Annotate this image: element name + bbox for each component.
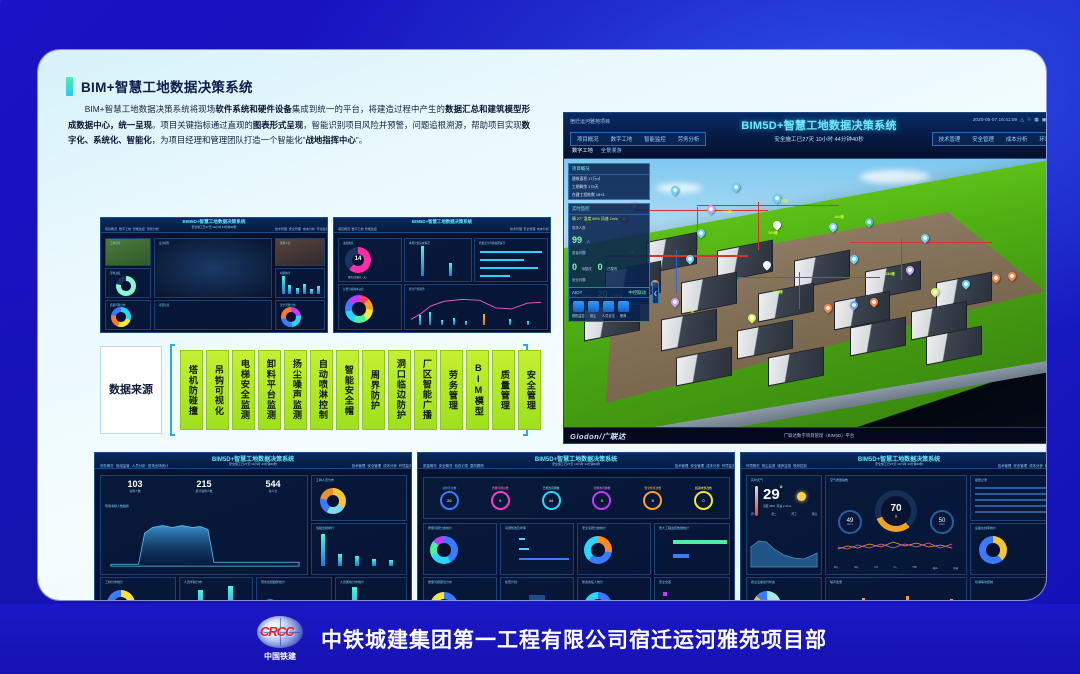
gauge-unit: 良	[895, 514, 898, 518]
tab-item[interactable]: 安全管理	[1013, 463, 1027, 468]
alarm-row	[975, 493, 1046, 495]
stat-value: 0	[572, 262, 577, 272]
bim-footer: Glodon/广联达 广联达数字项目管理（BIM5D）平台	[564, 427, 1046, 443]
aiot-item[interactable]: 喷淋	[617, 301, 629, 318]
hbar	[480, 259, 524, 261]
bar	[355, 556, 359, 566]
panel-rectify-rate[interactable]: 问题整改及时率	[500, 523, 574, 575]
ring-item[interactable]: 超期未整改数 0	[694, 486, 713, 510]
datetime-label: 2020-05-07 16:41:59	[973, 118, 1018, 123]
alarm-row	[975, 511, 1046, 513]
aiot-item[interactable]: 人员定位	[602, 301, 614, 318]
source-tag[interactable]: 智能安全帽	[336, 350, 359, 430]
stat-value: 0	[598, 262, 603, 272]
forecast-row: 周一 周二 周三 周四	[751, 512, 817, 516]
bar	[317, 286, 320, 294]
tab-item[interactable]: 安全管理	[523, 227, 535, 231]
panel-title: 班组出勤排行	[316, 526, 334, 530]
panel-title: 实时天气	[751, 478, 763, 482]
dashboard-environment[interactable]: BIM5D+智慧工地数据决策系统 安全施工已27天 10小时 44分钟40秒 环…	[740, 452, 1046, 600]
panel-check-plan[interactable]: 检查计划	[500, 577, 574, 600]
stat-label: 质量问题	[572, 250, 646, 255]
panel-issue-handling[interactable]: 质量安全问题处理情况	[474, 238, 548, 282]
aiot-item[interactable]: 塔机监控	[572, 301, 584, 318]
dashboard-tabs-right[interactable]: 技术管理 安全管理 成本分析 环境监测	[675, 463, 729, 468]
attendance-area-chart	[101, 512, 307, 570]
tab-item[interactable]: 技术管理	[275, 227, 287, 231]
dashboard-subtitle: 安全施工已27天 10小时 44分钟40秒	[192, 225, 237, 229]
owner-donut	[584, 592, 612, 600]
panel-title: 工地实景	[110, 241, 120, 245]
dashboard-tabs-right[interactable]: 技术管理 安全管理 成本分析 环境监测	[998, 463, 1046, 468]
stat-unit: 人	[586, 240, 589, 244]
panel-title: 质量问题分类统计	[428, 526, 452, 530]
source-tag[interactable]: 周界防护	[362, 350, 385, 430]
overlay-card-project-info[interactable]: 项目概况 建筑面积 17万㎡ 工期剩余 178天 在建工程栋数 18+3	[568, 163, 650, 200]
dashboard-subtitle: 安全施工已27天 10小时 44分钟40秒	[229, 462, 277, 466]
panel-title: 人员属地分布统计	[340, 580, 364, 584]
aqi-sparkline	[826, 538, 966, 552]
building-label: 14#楼	[722, 210, 732, 215]
ring-chart: 5	[592, 491, 611, 510]
dashboard-header: BIM5D+智慧工地数据决策系统 安全施工已27天 10小时 44分钟40秒 环…	[741, 453, 1046, 469]
tab-item[interactable]: 技术管理	[675, 463, 689, 468]
bim-status-bar[interactable]: 2020-05-07 16:41:59 △ ☉ ▦ ▣ ✉ ⚙ ☃	[973, 118, 1046, 123]
tower-crane-jib	[697, 205, 840, 206]
source-tag[interactable]: 质量管理	[492, 350, 515, 430]
ring-value: 9	[499, 498, 501, 503]
card-line: 建筑面积 17万㎡	[569, 175, 649, 183]
dashboard-tabs-left[interactable]: 质量概况 安全概况 检查记录 整改跟踪	[423, 463, 477, 468]
panel-site-photo[interactable]: 工地实景	[105, 238, 151, 266]
tab-item[interactable]: 安全管理	[690, 463, 704, 468]
tab-item[interactable]: 数字工地	[351, 227, 363, 231]
panel-progress-gauge[interactable]: 进度概览 14 整体进度偏差（天）	[338, 238, 402, 282]
stat-value: 99	[572, 235, 582, 245]
tab-item[interactable]: 智能监控	[365, 227, 377, 231]
panel-aqi[interactable]: 空气质量指数 70 良 49 PM2.5 50 PM10 SO₂	[825, 475, 967, 575]
alarm-row	[975, 487, 1046, 489]
ring-item[interactable]: 安全检查次数 8	[643, 486, 662, 510]
tab-item[interactable]: 劳务分析	[147, 227, 159, 231]
dashboard-tabs-left[interactable]: 环境概况 扬尘监测 噪声监测 喷淋控制	[746, 463, 800, 468]
alarm-row	[975, 505, 1046, 507]
tab-item[interactable]: 噪声监测	[777, 463, 791, 468]
building-label: 17#楼	[778, 199, 788, 204]
panel-title: 检查计划	[505, 580, 517, 584]
hbar	[519, 558, 569, 560]
bar	[465, 321, 467, 325]
aqi-item: 噪声	[933, 566, 938, 570]
bar	[389, 560, 393, 566]
tab-item[interactable]: 质量概况	[423, 463, 437, 468]
panel-alarm-records[interactable]: 报警记录	[970, 475, 1046, 521]
intro-paragraph: BIM+智慧工地数据决策系统将现场软件系统和硬件设备集成到统一的平台，将建造过程…	[68, 102, 530, 149]
dashboard-cost[interactable]: BIM5D+智慧工地数据决策系统 项目概况 数字工地 智能监控 技术管理 安全管…	[333, 217, 551, 333]
help-icon[interactable]: ☉	[1027, 118, 1031, 123]
panel-title: 空气质量指数	[830, 478, 848, 482]
panel-attendance-trend[interactable]: 现场考勤人数趋势 103 在场人数 215 累计进场人数 544 总人次	[100, 475, 308, 575]
bim-main-panel[interactable]: 宿迁运河雅苑项目 BIM5D+智慧工地数据决策系统 安全施工已27天 10小时 …	[563, 112, 1046, 444]
project-selector[interactable]: 宿迁运河雅苑项目	[570, 118, 610, 125]
hbar	[519, 548, 529, 550]
panel-title: 安全问题分类统计	[582, 526, 606, 530]
panel-title: 质量安全问题处理情况	[479, 241, 505, 245]
panel-title: 工种人员分布	[316, 478, 334, 482]
noise-bar	[906, 596, 909, 600]
tab-item[interactable]: 成本分析	[383, 463, 397, 468]
gauge-value: 14	[345, 256, 371, 262]
panel-quality-donut[interactable]: 质量问题分布	[105, 300, 151, 330]
wind-label: 风速 2.3m/s	[777, 504, 792, 508]
tab-item[interactable]: 技术管理	[939, 135, 961, 143]
panel-rectify-owner[interactable]: 整改责任人统计	[577, 577, 651, 600]
panel-title: 质量问题部位分布	[428, 580, 452, 584]
panel-title: 劳务出勤趋势统计	[261, 580, 285, 584]
panel-device-pie[interactable]: 扬尘设备运行状态	[746, 577, 822, 600]
crcc-logo-text: 中国铁建	[253, 651, 307, 662]
tab-item[interactable]: 环境监测	[722, 463, 735, 468]
bar	[509, 319, 511, 325]
ring-label: 待整改问题数	[592, 486, 611, 490]
ring-value: 8	[652, 498, 654, 503]
ring-item[interactable]: 质量问题总数 9	[491, 486, 510, 510]
panel-safety-donut[interactable]: 安全问题分布	[275, 300, 325, 330]
source-tag[interactable]: 自动喷淋控制	[310, 350, 333, 430]
aiot-icon-row[interactable]: 塔机监控 扬尘 人员定位 喷淋	[569, 298, 649, 321]
bar	[296, 288, 299, 294]
ring-value: 0	[702, 498, 704, 503]
panel-title: 工种分布统计	[105, 580, 123, 584]
weather-line: 晴 27° 湿度 68% 风速 2m/s	[569, 215, 649, 223]
tab-item[interactable]: 安全管理	[289, 227, 301, 231]
bar	[483, 314, 485, 325]
map-pin[interactable]	[731, 181, 742, 192]
bar	[429, 312, 431, 325]
tab-item[interactable]: 项目概况	[577, 135, 599, 143]
tab-item[interactable]: 喷淋控制	[793, 463, 807, 468]
source-tag[interactable]: 塔机防碰撞	[180, 350, 203, 430]
overlay-card-aiot[interactable]: AIOT 中控联动 塔机监控 扬尘 人员定位 喷淋	[568, 287, 650, 322]
card-header-text: AIOT	[572, 290, 582, 295]
ring-chart: 9	[491, 491, 510, 510]
source-tag[interactable]: 吊钩可视化	[206, 350, 229, 430]
aiot-label: 喷淋	[617, 313, 629, 318]
source-tag[interactable]: 洞口临边防护	[388, 350, 411, 430]
tower-crane-mast-blue	[901, 239, 902, 279]
gauge-label: PM10	[939, 524, 945, 526]
tab-item[interactable]: 数字工地	[119, 227, 131, 231]
tab-item[interactable]: 劳务分析	[678, 135, 700, 143]
tab-item[interactable]: 智能监控	[133, 227, 145, 231]
panel-title: 本周计划完成情况	[409, 241, 430, 245]
safety-donut	[584, 536, 612, 564]
card-badge[interactable]: 中控联动	[628, 290, 646, 296]
tower-crane-jib	[850, 242, 993, 243]
panel-quality-location[interactable]: 质量问题部位分布	[423, 577, 497, 600]
tab-item[interactable]: 成本分析	[537, 227, 549, 231]
bar	[372, 559, 376, 566]
panel-region-distribution[interactable]: 人员属地分布统计	[335, 577, 407, 600]
panel-age-distribution[interactable]: 人员年龄分布	[179, 577, 253, 600]
footer-bar: CRCC 中国铁建 中铁城建集团第一工程有限公司宿迁运河雅苑项目部	[0, 604, 1080, 674]
bar	[282, 276, 285, 294]
kpi-label: 在场人数	[128, 489, 143, 493]
noise-bar	[862, 598, 865, 600]
building-label: 2#楼	[686, 309, 694, 314]
tab-item[interactable]: 成本分析	[706, 463, 720, 468]
panel-title: 项目信息	[159, 303, 169, 307]
panel-attendance-stats[interactable]: 劳务出勤趋势统计	[256, 577, 332, 600]
bim-title: BIM5D+智慧工地数据决策系统	[741, 117, 896, 133]
panel-trade-stats[interactable]: 工种分布统计	[100, 577, 176, 600]
tab-item[interactable]: 项目概况	[338, 227, 350, 231]
dashboard-quality[interactable]: BIM5D+智慧工地数据决策系统 安全施工已27天 10小时 44分钟40秒 质…	[417, 452, 735, 600]
forecast-day: 周三	[792, 512, 797, 516]
stat-label: 安全问题	[572, 277, 646, 282]
quality-donut	[430, 536, 458, 564]
panel-noise-monitor[interactable]: 噪声监测	[825, 577, 967, 600]
panel-weather[interactable]: 实时天气 29° 湿度 68% 风速 2.3m/s 周一 周二 周三 周四	[746, 475, 822, 575]
forecast-day: 周一	[751, 512, 756, 516]
cloud	[860, 170, 930, 184]
tab-item[interactable]: 成本分析	[1006, 135, 1028, 143]
dashboard-tabs-left[interactable]: 项目概况 数字工地 智能监控 劳务分析	[105, 227, 153, 231]
dashboard-title: BIM5D+智慧工地数据决策系统	[412, 219, 472, 225]
panel-device-online[interactable]: 设备在线率统计	[970, 523, 1046, 575]
panel-title: 形象进度	[110, 271, 120, 275]
kpi-label: 累计进场人数	[196, 489, 213, 493]
kpi-value: 103	[128, 479, 143, 489]
location-donut	[430, 592, 458, 600]
tower-crane-mast	[697, 207, 698, 250]
stat-unit: 已整改	[607, 267, 617, 271]
source-tag[interactable]: 电梯安全监测	[232, 350, 255, 430]
tab-item[interactable]: 进场出场统计	[148, 463, 168, 468]
panel-title: 材料统计	[280, 271, 290, 275]
person-locate-icon	[603, 301, 614, 312]
panel-material-bars[interactable]: 材料统计	[275, 268, 325, 298]
gauge-left: 49 PM2.5	[838, 510, 862, 534]
tab-item[interactable]: 班组监管	[116, 463, 130, 468]
card-header: AIOT 中控联动	[569, 288, 649, 298]
panel-title: 现场人员	[280, 241, 290, 245]
panel-title: 喷淋联动控制	[975, 580, 993, 584]
tab-item[interactable]: 环境监测	[1039, 135, 1046, 143]
bracket-left	[170, 344, 175, 436]
tab-item[interactable]: 数字工地	[611, 135, 633, 143]
trade-pie-chart	[320, 488, 346, 514]
tab-item[interactable]: 智能监控	[644, 135, 666, 143]
subtab-item[interactable]: 数字工地	[572, 147, 593, 154]
gauge-label: PM2.5	[847, 524, 853, 526]
tab-item[interactable]: 环境监测	[317, 227, 328, 231]
dashboard-header: BIM5D+智慧工地数据决策系统 安全施工已27天 10小时 44分钟40秒 项…	[101, 218, 327, 233]
dashboard-tabs-left[interactable]: 项目概况 数字工地 智能监控	[338, 227, 374, 231]
bim-footer-note: 广联达数字项目管理（BIM5D）平台	[784, 433, 855, 439]
tab-item[interactable]: 项目概况	[105, 227, 117, 231]
hbar	[673, 540, 727, 544]
panel-safety-disclosure[interactable]: 安全交底	[654, 577, 730, 600]
panel-quality-category[interactable]: 质量问题分类统计	[423, 523, 497, 575]
tab-item[interactable]: 技术管理	[352, 463, 366, 468]
panel-danger-count[interactable]: 危大工程监控数量统计	[654, 523, 730, 575]
tab-item[interactable]: 安全管理	[367, 463, 381, 468]
aqi-item: CO	[874, 566, 878, 570]
card-line: 工期剩余 178天	[569, 183, 649, 191]
panel-title: 报警记录	[975, 478, 987, 482]
tab-item[interactable]: 成本分析	[303, 227, 315, 231]
bar	[352, 587, 357, 600]
panel-title: 安全交底	[659, 580, 671, 584]
dashboard-header: BIM5D+智慧工地数据决策系统 安全施工已27天 10小时 44分钟40秒 劳…	[95, 453, 411, 469]
subtab-item[interactable]: 全景漫游	[601, 147, 622, 154]
ring-chart: 26	[440, 491, 459, 510]
bim-tabs-left[interactable]: 项目概况 数字工地 智能监控 劳务分析	[570, 132, 706, 146]
ring-chart: 0	[694, 491, 713, 510]
panel-title: 设备在线率统计	[975, 526, 996, 530]
source-tag[interactable]: 劳务管理	[440, 350, 463, 430]
tab-item[interactable]: 劳务概况	[100, 463, 114, 468]
panel-site-people[interactable]: 现场人员	[275, 238, 325, 266]
tab-item[interactable]: 环境概况	[746, 463, 760, 468]
panel-output-trend[interactable]: 累计产值趋势	[404, 284, 548, 330]
glodon-logo: Glodon/广联达	[570, 431, 626, 442]
tab-item[interactable]: 整改跟踪	[470, 463, 484, 468]
tab-item[interactable]: 环境监测	[399, 463, 412, 468]
dashboard-tabs-right[interactable]: 技术管理 安全管理 成本分析 环境监测	[352, 463, 406, 468]
page-title-text: BIM+智慧工地数据决策系统	[81, 76, 253, 96]
hbar	[673, 554, 689, 558]
dashboard-overview[interactable]: BIM5D+智慧工地数据决策系统 安全施工已27天 10小时 44分钟40秒 项…	[100, 217, 328, 333]
monitor-icon[interactable]: ▣	[1042, 118, 1046, 123]
aiot-item[interactable]: 扬尘	[587, 301, 599, 318]
cost-donut-chart	[345, 295, 373, 323]
content-card: BIM+智慧工地数据决策系统 BIM+智慧工地数据决策系统将现场软件系统和硬件设…	[38, 50, 1046, 600]
aqi-item: TSP	[912, 566, 917, 570]
trade-donut-chart	[107, 590, 135, 600]
aiot-label: 扬尘	[587, 313, 599, 318]
legend-dot	[663, 592, 667, 596]
tab-item[interactable]: 检查记录	[454, 463, 468, 468]
bar	[441, 320, 443, 325]
scene-collapse-handle[interactable]: ❮	[652, 282, 659, 304]
page-title: BIM+智慧工地数据决策系统	[66, 76, 253, 96]
dashboard-labor[interactable]: BIM5D+智慧工地数据决策系统 安全施工已27天 10小时 44分钟40秒 劳…	[94, 452, 412, 600]
tower-crane-mast	[758, 202, 759, 250]
sun-icon	[797, 492, 806, 501]
ring-item[interactable]: 待整改问题数 5	[592, 486, 611, 510]
tab-item[interactable]: 成本分析	[1029, 463, 1043, 468]
dashboard-subtitle: 安全施工已27天 10小时 44分钟40秒	[875, 462, 923, 466]
tab-item[interactable]: 技术管理	[510, 227, 522, 231]
source-tag[interactable]: 扬尘噪声监测	[284, 350, 307, 430]
panel-cost-breakdown[interactable]: 分部分项成本占比	[338, 284, 402, 330]
aqi-item: SO₂	[834, 566, 838, 570]
dashboard-tabs-left[interactable]: 劳务概况 班组监管 人员分析 进场出场统计	[100, 463, 161, 468]
temp-number: 29	[763, 486, 780, 503]
tab-item[interactable]: 安全概况	[439, 463, 453, 468]
humidity-label: 湿度 68%	[763, 504, 775, 508]
noise-bar	[950, 599, 953, 600]
panel-team-ranking[interactable]: 班组出勤排行	[311, 523, 407, 575]
panel-title: 整改责任人统计	[582, 580, 603, 584]
bar	[421, 246, 424, 276]
hbar	[480, 251, 542, 253]
empty-state-icon	[529, 595, 545, 600]
source-tag[interactable]: 厂区智能广播	[414, 350, 437, 430]
bim-subtitle: 安全施工已27天 10小时 44分钟40秒	[774, 135, 864, 143]
bim-subtabs[interactable]: 数字工地 全景漫游	[572, 147, 622, 154]
source-tag[interactable]: BIM模型	[466, 350, 489, 430]
bar	[527, 321, 529, 325]
hbar	[480, 275, 510, 277]
building-label: 18#楼	[773, 290, 783, 295]
panel-model-view[interactable]: 项目信息	[154, 300, 272, 330]
alert-icon[interactable]: △	[1020, 118, 1024, 123]
tab-item[interactable]: 技术管理	[998, 463, 1012, 468]
ring-label: 质量问题总数	[491, 486, 510, 490]
tab-item[interactable]: 人员分析	[132, 463, 146, 468]
data-source-row: 数据来源 塔机防碰撞 吊钩可视化 电梯安全监测 卸料平台监测 扬尘噪声监测 自动…	[100, 340, 528, 440]
bim-tabs-right[interactable]: 技术管理 安全管理 成本分析 环境监测	[932, 132, 1046, 146]
aqi-item: NO₂	[854, 566, 859, 570]
building-label: 15#楼	[885, 272, 895, 277]
ring-item[interactable]: 已整改问题数 44	[542, 486, 561, 510]
hbar	[480, 267, 538, 269]
aqi-item: O₃	[894, 566, 897, 570]
gauge-value: 70	[890, 504, 901, 514]
panel-sprinkler-control[interactable]: 喷淋联动控制	[970, 577, 1046, 600]
title-accent-bar	[66, 77, 73, 96]
sprinkler-icon	[618, 301, 629, 312]
panel-3d-site[interactable]: 设计模型	[154, 238, 272, 298]
progress-donut-chart	[116, 276, 136, 296]
ring-item[interactable]: 总检查次数 26	[440, 486, 459, 510]
tab-item[interactable]: 安全管理	[972, 135, 994, 143]
temp-unit: °	[780, 486, 783, 493]
panel-title: 设计模型	[159, 241, 169, 245]
gauge-label: 整体进度偏差（天）	[341, 275, 375, 279]
panel-title: 现场考勤人数趋势	[105, 504, 129, 508]
tower-crane-jib	[737, 277, 880, 278]
source-tag[interactable]: 安全管理	[518, 350, 541, 430]
panel-title: 进度概览	[343, 241, 353, 245]
panel-title: 噪声监测	[830, 580, 842, 584]
source-tag-list: 塔机防碰撞 吊钩可视化 电梯安全监测 卸料平台监测 扬尘噪声监测 自动喷淋控制 …	[180, 350, 541, 430]
online-rate-donut	[979, 536, 1007, 564]
panel-safety-category[interactable]: 安全问题分类统计	[577, 523, 651, 575]
card-header: 项目概况	[569, 164, 649, 175]
tab-item[interactable]: 扬尘监测	[762, 463, 776, 468]
grid-icon[interactable]: ▦	[1034, 118, 1039, 123]
panel-weekly-plan[interactable]: 本周计划完成情况	[404, 238, 472, 282]
aqi-subitems: SO₂ NO₂ CO O₃ TSP 噪声 风速	[826, 566, 966, 570]
dashboard-tabs-right[interactable]: 技术管理 安全管理 成本分析 环境监测	[275, 227, 323, 231]
ring-value: 26	[447, 498, 451, 503]
ring-chart: 8	[643, 491, 662, 510]
bim-3d-scene[interactable]: 17#楼 14#楼 16#楼 10#楼 13#楼 12#楼 15#楼 18#楼 …	[564, 159, 1046, 427]
tab-item[interactable]: 环境监测	[1045, 463, 1046, 468]
source-tag[interactable]: 卸料平台监测	[258, 350, 281, 430]
card-line: 在建工程栋数 18+3	[569, 191, 649, 199]
panel-progress-donut[interactable]: 形象进度	[105, 268, 151, 298]
dashboard-tabs-right[interactable]: 技术管理 安全管理 成本分析	[510, 227, 546, 231]
panel-title: 分部分项成本占比	[343, 287, 364, 291]
panel-trade-distribution[interactable]: 工种人员分布	[311, 475, 407, 521]
panel-title: 人员年龄分布	[184, 580, 202, 584]
ring-chart: 44	[542, 491, 561, 510]
